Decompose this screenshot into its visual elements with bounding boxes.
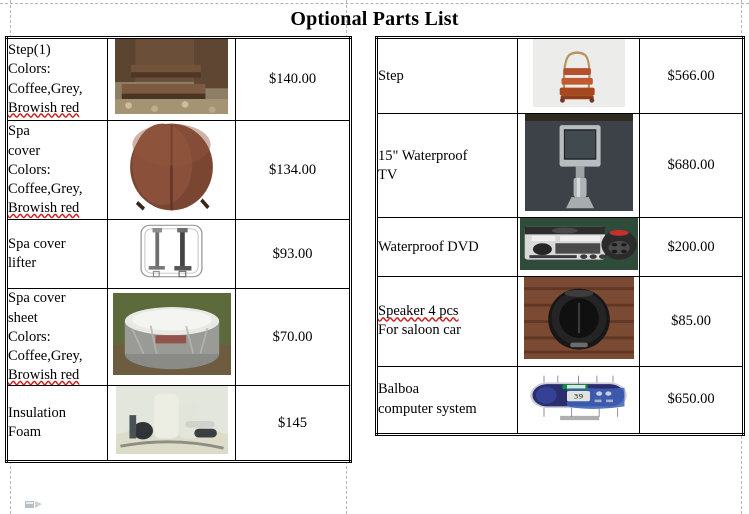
part-price-cell: $680.00 — [640, 114, 744, 218]
table-row: Step(1)Colors:Coffee,Grey,Browish red$14… — [7, 38, 351, 121]
part-name-cell: 15" WaterproofTV — [377, 114, 518, 218]
wooden-spa-step-photo — [115, 39, 228, 114]
table-row: Step$566.00 — [377, 38, 744, 114]
right-parts-table-body: Step$566.0015" WaterproofTV$680.00Waterp… — [377, 38, 744, 435]
table-row: InsulationFoam$145 — [7, 386, 351, 462]
part-image-cell — [108, 289, 236, 386]
table-row: 15" WaterproofTV$680.00 — [377, 114, 744, 218]
table-row: SpacoverColors:Coffee,Grey,Browish red$1… — [7, 121, 351, 220]
part-name-line: Colors: — [8, 328, 107, 347]
part-name-line: Spa cover — [8, 235, 107, 254]
part-name-line: Colors: — [8, 161, 107, 180]
part-image-cell — [108, 38, 236, 121]
table-row: Balboacomputer system39$650.00 — [377, 366, 744, 434]
part-image-cell — [108, 386, 236, 462]
table-row: Spa coverlifter$93.00 — [7, 220, 351, 289]
part-price-cell: $200.00 — [640, 218, 744, 277]
part-name-line: Coffee,Grey, — [8, 347, 107, 366]
part-price-cell: $145 — [236, 386, 351, 462]
part-name-cell: InsulationFoam — [7, 386, 108, 462]
part-name-cell: SpacoverColors:Coffee,Grey,Browish red — [7, 121, 108, 220]
spa-cover-lifter-line-drawing — [124, 220, 219, 282]
part-price-cell: $85.00 — [640, 277, 744, 366]
part-image-cell — [518, 38, 640, 114]
page-margin-guide-top — [0, 3, 749, 4]
balboa-control-panel-photo: 39 — [521, 367, 636, 427]
part-image-cell — [518, 218, 640, 277]
part-name-line: cover — [8, 142, 107, 161]
part-name-cell: Step — [377, 38, 518, 114]
round-brown-spa-cover-photo — [114, 121, 229, 213]
table-row: Waterproof DVD$200.00 — [377, 218, 744, 277]
part-name-line: Step — [378, 67, 517, 86]
part-name-line: TV — [378, 166, 517, 185]
part-name-cell: Step(1)Colors:Coffee,Grey,Browish red — [7, 38, 108, 121]
page-title: Optional Parts List — [0, 8, 749, 31]
part-image-cell — [108, 121, 236, 220]
part-image-cell: 39 — [518, 366, 640, 434]
part-name-cell: Speaker 4 pcsFor saloon car — [377, 277, 518, 366]
part-image-cell — [518, 114, 640, 218]
page-edge-artifact — [25, 500, 43, 509]
part-name-cell: Waterproof DVD — [377, 218, 518, 277]
wooden-rail-step-photo — [533, 39, 625, 107]
part-name-line: Colors: — [8, 60, 107, 79]
part-name-line: Spa — [8, 122, 107, 141]
table-row: Speaker 4 pcsFor saloon car$85.00 — [377, 277, 744, 366]
part-name-line: 15" Waterproof — [378, 147, 517, 166]
part-price-cell: $566.00 — [640, 38, 744, 114]
part-name-line: Spa cover — [8, 289, 107, 308]
part-name-cell: Spa coversheetColors:Coffee,Grey,Browish… — [7, 289, 108, 386]
left-parts-table: Step(1)Colors:Coffee,Grey,Browish red$14… — [5, 36, 352, 463]
part-name-cell: Spa coverlifter — [7, 220, 108, 289]
part-price-cell: $650.00 — [640, 366, 744, 434]
part-name-line: lifter — [8, 254, 107, 273]
part-price-cell: $70.00 — [236, 289, 351, 386]
part-name-line: Coffee,Grey, — [8, 80, 107, 99]
part-name-line: Insulation — [8, 404, 107, 423]
part-name-line: Browish red — [8, 99, 107, 118]
part-price-cell: $134.00 — [236, 121, 351, 220]
insulation-foam-photo — [116, 386, 228, 454]
right-parts-table: Step$566.0015" WaterproofTV$680.00Waterp… — [375, 36, 745, 436]
waterproof-tv-photo — [525, 114, 633, 211]
waterproof-dvd-player-photo — [520, 218, 638, 270]
part-name-line: Step(1) — [8, 41, 107, 60]
part-name-line: Browish red — [8, 199, 107, 218]
part-name-line: Coffee,Grey, — [8, 180, 107, 199]
part-name-line: computer system — [378, 400, 517, 419]
svg-text:39: 39 — [574, 392, 584, 400]
left-parts-table-body: Step(1)Colors:Coffee,Grey,Browish red$14… — [7, 38, 351, 462]
part-name-line: Browish red — [8, 366, 107, 385]
part-price-cell: $93.00 — [236, 220, 351, 289]
part-name-line: Foam — [8, 423, 107, 442]
part-price-cell: $140.00 — [236, 38, 351, 121]
part-name-line: For saloon car — [378, 321, 517, 340]
part-name-line: Speaker 4 pcs — [378, 302, 517, 321]
part-name-line: Waterproof DVD — [378, 238, 517, 257]
part-name-line: Balboa — [378, 380, 517, 399]
table-row: Spa coversheetColors:Coffee,Grey,Browish… — [7, 289, 351, 386]
part-name-line: sheet — [8, 309, 107, 328]
part-image-cell — [518, 277, 640, 366]
part-name-cell: Balboacomputer system — [377, 366, 518, 434]
round-black-speaker-photo — [524, 277, 634, 359]
grey-spa-cover-sheet-photo — [113, 293, 231, 375]
part-image-cell — [108, 220, 236, 289]
